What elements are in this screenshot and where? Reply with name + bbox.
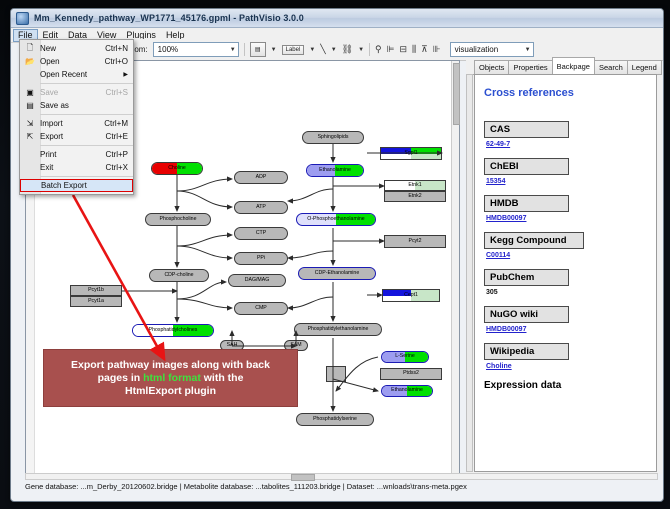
callout-line2-b: with the <box>201 372 244 384</box>
node-label: CTP <box>256 231 266 236</box>
distribute-icon[interactable]: ⫼ <box>412 44 416 55</box>
file-menu-item-print[interactable]: PrintCtrl+P <box>20 148 133 161</box>
metabolite-node[interactable]: O-Phosphoethanolamine <box>296 213 376 226</box>
application-window: Mm_Kennedy_pathway_WP1771_45176.gpml - P… <box>10 8 664 502</box>
metabolite-node[interactable]: Sphingolipids <box>302 131 364 144</box>
file-menu-item-open[interactable]: 📂OpenCtrl+O <box>20 55 133 68</box>
file-menu-item-exit[interactable]: ExitCtrl+X <box>20 161 133 174</box>
gene-node[interactable]: Pcyt1a <box>70 296 122 307</box>
node-label: PPi <box>257 256 265 261</box>
xref-value-nugo-wiki[interactable]: HMDB00097 <box>486 326 647 333</box>
sidebar-tabs: ObjectsPropertiesBackpageSearchLegend <box>466 60 662 75</box>
file-menu-item-shortcut: Ctrl+M <box>104 119 133 128</box>
status-area: Gene database: ...m_Derby_20120602.bridg… <box>25 473 658 493</box>
metabolite-node[interactable]: Phosphocholine <box>145 213 211 226</box>
callout-line1: Export pathway images along with back <box>71 359 270 371</box>
save-icon: ▣ <box>20 88 40 97</box>
menu-separator <box>40 83 133 84</box>
toolbar-separator-2 <box>369 43 370 56</box>
callout-line3: HtmlExport plugin <box>125 385 216 397</box>
file-menu-item-new[interactable]: 🗋NewCtrl+N <box>20 42 133 55</box>
sidebar-tab-properties[interactable]: Properties <box>508 60 552 74</box>
callout-line2-a: pages in <box>98 372 144 384</box>
folder-open-icon: 📂 <box>20 57 40 66</box>
chevron-down-icon: ▼ <box>230 47 236 53</box>
metabolite-node[interactable]: PPi <box>234 252 288 265</box>
xref-value-wikipedia[interactable]: Choline <box>486 363 647 370</box>
chevron-down-icon-2: ▼ <box>525 47 531 53</box>
node-label: Phosphatidylethanolamine <box>308 327 369 332</box>
sidebar-tab-backpage[interactable]: Backpage <box>552 57 595 74</box>
node-label: Etnk2 <box>408 194 421 199</box>
metabolite-node[interactable]: Ethanolamine <box>381 385 433 397</box>
cross-references-heading: Cross references <box>484 87 647 99</box>
import-icon: ⇲ <box>20 119 40 128</box>
menu-separator <box>40 145 133 146</box>
file-menu-item-save: ▣SaveCtrl+S <box>20 86 133 99</box>
toolbar-separator <box>244 43 245 56</box>
node-label: Phosphatidylcholines <box>149 328 198 333</box>
shape-icon[interactable]: ▤ <box>250 42 266 57</box>
node-label: Pcyt2 <box>409 239 422 244</box>
submenu-arrow-icon: ▶ <box>123 71 133 78</box>
file-menu-item-shortcut: Ctrl+N <box>105 44 133 53</box>
status-bar-text: Gene database: ...m_Derby_20120602.bridg… <box>25 482 658 491</box>
node-label: CDP-Ethanolamine <box>315 271 359 276</box>
new-file-icon: 🗋 <box>20 42 40 56</box>
gene-node[interactable]: Ptdss2 <box>380 368 442 380</box>
node-label: Ptdss2 <box>403 371 419 376</box>
horizontal-scroll-thumb[interactable] <box>291 474 315 481</box>
file-menu-item-save-as[interactable]: ▤Save as <box>20 99 133 112</box>
gene-node[interactable]: Pcyt2 <box>384 235 446 248</box>
file-menu-item-label: New <box>40 44 105 53</box>
pathvisio-icon <box>16 12 29 25</box>
label-dropdown-icon[interactable]: ▼ <box>309 47 315 53</box>
zoom-value: 100% <box>158 45 178 54</box>
file-menu-item-label: Import <box>40 119 104 128</box>
zoom-combobox[interactable]: 100% ▼ <box>153 42 239 57</box>
metabolite-node[interactable]: ADP <box>234 171 288 184</box>
sidebar-scrollbar[interactable] <box>466 74 473 472</box>
file-menu-item-label: Open Recent <box>40 70 118 79</box>
xref-value-cas[interactable]: 62-49-7 <box>486 141 647 148</box>
metabolite-node[interactable]: CDP-Ethanolamine <box>298 267 376 280</box>
node-label: Cept1 <box>404 293 418 298</box>
gene-node[interactable]: Sgpl1 <box>380 147 442 160</box>
file-menu-item-label: Save as <box>40 101 128 110</box>
metabolite-node[interactable]: CMP <box>234 302 288 315</box>
file-menu-item-label: Exit <box>40 163 106 172</box>
file-menu-item-label: Save <box>40 88 106 97</box>
title-bar: Mm_Kennedy_pathway_WP1771_45176.gpml - P… <box>11 9 663 28</box>
interaction-icon[interactable]: ⛓ <box>342 44 353 55</box>
metabolite-node[interactable]: ATP <box>234 201 288 214</box>
align-center-icon[interactable]: ⊟ <box>399 44 407 55</box>
xref-db-kegg-compound: Kegg Compound <box>484 232 584 249</box>
metabolite-node[interactable]: L-Serine <box>381 351 429 363</box>
canvas-scroll-thumb[interactable] <box>453 63 460 125</box>
file-menu-item-shortcut: Ctrl+E <box>106 132 133 141</box>
label-button[interactable]: Label <box>282 45 305 55</box>
file-menu-item-label: Export <box>40 132 106 141</box>
node-label: Pcyt1b <box>88 288 104 293</box>
metabolite-node[interactable]: Ethanolamine <box>306 164 364 177</box>
xref-db-hmdb: HMDB <box>484 195 569 212</box>
file-menu-dropdown[interactable]: 🗋NewCtrl+N📂OpenCtrl+OOpen Recent▶▣SaveCt… <box>19 39 134 195</box>
metabolite-node[interactable]: CTP <box>234 227 288 240</box>
node-label: Sgpl1 <box>404 151 417 156</box>
gene-node[interactable]: Etnk2 <box>384 191 446 202</box>
horizontal-scrollbar[interactable] <box>25 473 658 480</box>
metabolite-node[interactable]: Phosphatidylcholines <box>132 324 214 337</box>
node-label: SAM <box>290 343 301 348</box>
node-label: DAG/MAG <box>245 278 270 283</box>
xref-db-cas: CAS <box>484 121 569 138</box>
callout-annotation: Export pathway images along with back pa… <box>43 349 298 407</box>
file-menu-item-open-recent[interactable]: Open Recent▶ <box>20 68 133 81</box>
file-menu-item-import[interactable]: ⇲ImportCtrl+M <box>20 117 133 130</box>
xref-db-nugo-wiki: NuGO wiki <box>484 306 569 323</box>
export-icon: ⇱ <box>20 132 40 141</box>
line-icon[interactable]: ╲ <box>320 44 325 55</box>
file-menu-item-shortcut: Ctrl+P <box>106 150 133 159</box>
align-left-icon[interactable]: ⊫ <box>387 44 395 55</box>
node-label: CDP-choline <box>164 273 193 278</box>
node-label: Phosphocholine <box>160 217 197 222</box>
visualization-value: visualization <box>455 45 499 54</box>
line-dropdown-icon[interactable]: ▼ <box>331 47 337 53</box>
xref-db-wikipedia: Wikipedia <box>484 343 569 360</box>
metabolite-node[interactable]: Phosphatidylethanolamine <box>294 323 382 336</box>
gene-node[interactable] <box>326 366 346 382</box>
callout-highlight: html format <box>143 372 201 384</box>
sidebar-panel: ObjectsPropertiesBackpageSearchLegend Cr… <box>466 60 662 474</box>
node-label: Phosphatidylserine <box>313 417 357 422</box>
sidebar-tab-objects[interactable]: Objects <box>474 60 509 74</box>
canvas-vertical-scrollbar[interactable] <box>451 61 459 475</box>
metabolite-node[interactable]: Choline <box>151 162 203 175</box>
file-menu-item-batch-export[interactable]: Batch Export <box>20 179 133 192</box>
stack-icon[interactable]: ⊼ <box>421 44 428 55</box>
metabolite-node[interactable]: Phosphatidylserine <box>296 413 374 426</box>
menu-separator <box>40 176 133 177</box>
backpage-content: Cross references CAS62-49-7ChEBI15354HMD… <box>474 74 657 472</box>
expression-data-heading: Expression data <box>484 380 647 391</box>
file-menu-item-shortcut: Ctrl+O <box>105 57 133 66</box>
xref-value-hmdb[interactable]: HMDB00097 <box>486 215 647 222</box>
node-label: Pcyt1a <box>88 299 104 304</box>
file-menu-item-label: Open <box>40 57 105 66</box>
node-label: ADP <box>256 175 267 180</box>
node-label: Choline <box>168 166 186 171</box>
node-label: Sphingolipids <box>318 135 349 140</box>
visualization-combobox[interactable]: visualization ▼ <box>450 42 534 57</box>
xref-db-pubchem: PubChem <box>484 269 569 286</box>
node-label: CMP <box>255 306 267 311</box>
xref-value-pubchem: 305 <box>486 289 647 296</box>
node-label: ATP <box>256 205 266 210</box>
save-as-icon: ▤ <box>20 101 40 110</box>
xref-value-kegg-compound[interactable]: C00114 <box>486 252 647 259</box>
file-menu-item-shortcut: Ctrl+X <box>106 163 133 172</box>
xref-value-chebi[interactable]: 15354 <box>486 178 647 185</box>
file-menu-item-export[interactable]: ⇱ExportCtrl+E <box>20 130 133 143</box>
gene-node[interactable]: Cept1 <box>382 289 440 302</box>
gene-node[interactable]: Pcyt1b <box>70 285 122 296</box>
metabolite-node[interactable]: CDP-choline <box>149 269 209 282</box>
metabolite-node[interactable]: DAG/MAG <box>228 274 286 287</box>
node-label: Ethanolamine <box>319 168 351 173</box>
node-label: O-Phosphoethanolamine <box>307 217 364 222</box>
node-label: SAH <box>227 343 238 348</box>
sidebar-tab-legend[interactable]: Legend <box>627 60 662 74</box>
sidebar-tab-search[interactable]: Search <box>594 60 628 74</box>
file-menu-item-label: Batch Export <box>41 181 127 190</box>
node-label: Ethanolamine <box>391 388 423 393</box>
node-label: L-Serine <box>395 354 415 359</box>
window-title: Mm_Kennedy_pathway_WP1771_45176.gpml - P… <box>34 13 304 23</box>
interaction-dropdown-icon[interactable]: ▼ <box>358 47 364 53</box>
node-label: Etnk1 <box>408 183 421 188</box>
anchor-icon[interactable]: ⚲ <box>375 44 382 55</box>
shape-dropdown-icon[interactable]: ▼ <box>271 47 277 53</box>
file-menu-item-label: Print <box>40 150 106 159</box>
xref-db-chebi: ChEBI <box>484 158 569 175</box>
menu-separator <box>40 114 133 115</box>
group-icon[interactable]: ⊪ <box>433 44 441 55</box>
gene-node[interactable]: Etnk1 <box>384 180 446 191</box>
file-menu-item-shortcut: Ctrl+S <box>106 88 133 97</box>
